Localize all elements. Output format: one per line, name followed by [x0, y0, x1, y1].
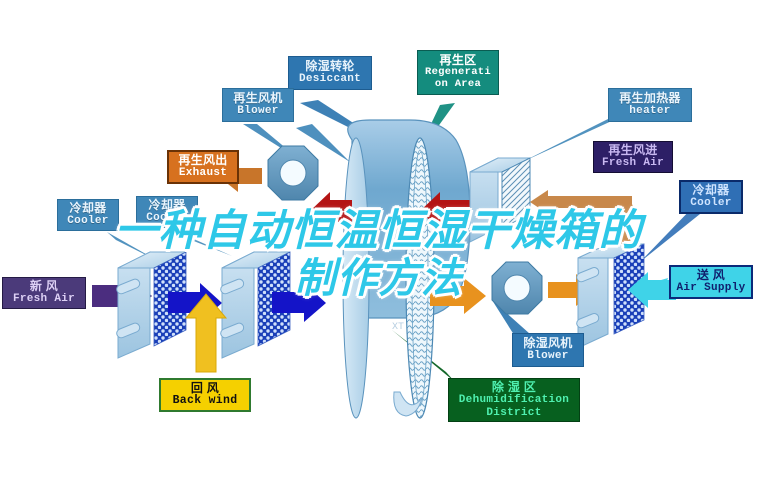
- label-dehum-blower-en: Blower: [515, 350, 581, 362]
- label-desiccant-en: Desiccant: [291, 73, 369, 85]
- label-fresh-air-cn: 新 风: [5, 280, 83, 293]
- label-dehum-district-en2: District: [451, 407, 577, 419]
- label-cooler-right[interactable]: 冷却器 Cooler: [679, 180, 743, 214]
- diagram-canvas: 除湿转轮 Desiccant 再生风机 Blower 再生区 Regenerat…: [0, 0, 757, 488]
- label-desiccant-cn: 除湿转轮: [291, 60, 369, 73]
- label-exhaust-cn: 再生风出: [171, 154, 235, 167]
- label-air-supply[interactable]: 送 风 Air Supply: [669, 265, 753, 299]
- label-fresh-air[interactable]: 新 风 Fresh Air: [2, 277, 86, 309]
- label-cooler-left-1[interactable]: 冷却器 Cooler: [57, 199, 119, 231]
- label-air-supply-cn: 送 风: [673, 269, 749, 282]
- hvac-schematic-artwork: [0, 0, 757, 488]
- label-cooler-left-1-cn: 冷却器: [60, 202, 116, 215]
- desiccant-wheel: [343, 120, 470, 418]
- label-dehum-blower-cn: 除湿风机: [515, 337, 581, 350]
- label-cooler-right-en: Cooler: [683, 197, 739, 209]
- label-regen-blower-en: Blower: [225, 105, 291, 117]
- label-regen-blower-cn: 再生风机: [225, 92, 291, 105]
- label-back-wind-cn: 回 风: [163, 382, 247, 395]
- label-regen-fresh-air-en: Fresh Air: [596, 157, 670, 169]
- label-dehum-district-en: Dehumidification: [451, 394, 577, 406]
- label-cooler-left-1-en: Cooler: [60, 215, 116, 227]
- label-dehumidification-district[interactable]: 除 湿 区 Dehumidification District: [448, 378, 580, 422]
- label-regeneration-area[interactable]: 再生区 Regenerati on Area: [417, 50, 499, 95]
- label-back-wind[interactable]: 回 风 Back wind: [159, 378, 251, 412]
- label-cooler-right-cn: 冷却器: [683, 184, 739, 197]
- regeneration-blower: [268, 146, 318, 200]
- label-cooler-left-2[interactable]: 冷却器 Cooler: [136, 196, 198, 228]
- label-regen-fresh-air-cn: 再生风进: [596, 144, 670, 157]
- label-regeneration-heater[interactable]: 再生加热器 heater: [608, 88, 692, 122]
- label-back-wind-en: Back wind: [163, 395, 247, 408]
- dehumidification-blower: [492, 262, 542, 314]
- label-dehumidification-blower[interactable]: 除湿风机 Blower: [512, 333, 584, 367]
- label-regen-area-en2: on Area: [420, 79, 496, 91]
- label-regen-area-cn: 再生区: [420, 54, 496, 67]
- label-dehum-district-cn: 除 湿 区: [451, 381, 577, 394]
- regeneration-heater: [470, 158, 530, 242]
- label-desiccant[interactable]: 除湿转轮 Desiccant: [288, 56, 372, 90]
- label-air-supply-en: Air Supply: [673, 282, 749, 294]
- watermark-text: XT: [392, 322, 404, 333]
- supply-filter-unit: [575, 244, 644, 348]
- label-regen-heater-en: heater: [611, 105, 689, 117]
- label-regen-heater-cn: 再生加热器: [611, 92, 689, 105]
- label-exhaust[interactable]: 再生风出 Exhaust: [167, 150, 239, 184]
- label-regeneration-blower[interactable]: 再生风机 Blower: [222, 88, 294, 122]
- label-exhaust-en: Exhaust: [171, 167, 235, 179]
- label-fresh-air-en: Fresh Air: [5, 293, 83, 305]
- label-regen-fresh-air[interactable]: 再生风进 Fresh Air: [593, 141, 673, 173]
- label-cooler-left-2-en: Cooler: [139, 212, 195, 224]
- label-cooler-left-2-cn: 冷却器: [139, 199, 195, 212]
